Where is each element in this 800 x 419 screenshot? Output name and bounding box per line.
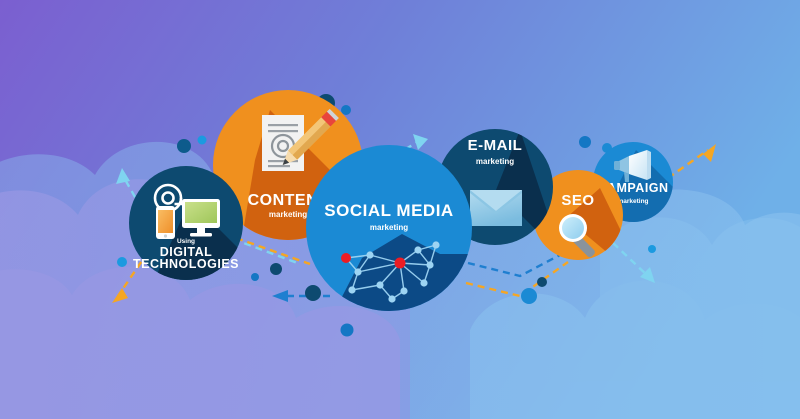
email-sublabel: marketing — [476, 157, 514, 166]
social-label: SOCIAL MEDIA — [324, 201, 453, 220]
envelope-icon — [470, 190, 522, 226]
email-label: E-MAIL — [468, 137, 523, 154]
digital-smalllabel: Using — [177, 238, 195, 245]
campaign-sublabel: marketing — [617, 198, 648, 205]
social-sublabel: marketing — [370, 223, 408, 232]
infographic-svg: CAMPAIGN marketing SEO E-MAIL marketing — [0, 0, 800, 419]
infographic-canvas: CAMPAIGN marketing SEO E-MAIL marketing — [0, 0, 800, 419]
seo-label: SEO — [561, 192, 594, 209]
digital-label-line2: TECHNOLOGIES — [133, 257, 239, 271]
content-sublabel: marketing — [269, 210, 307, 219]
